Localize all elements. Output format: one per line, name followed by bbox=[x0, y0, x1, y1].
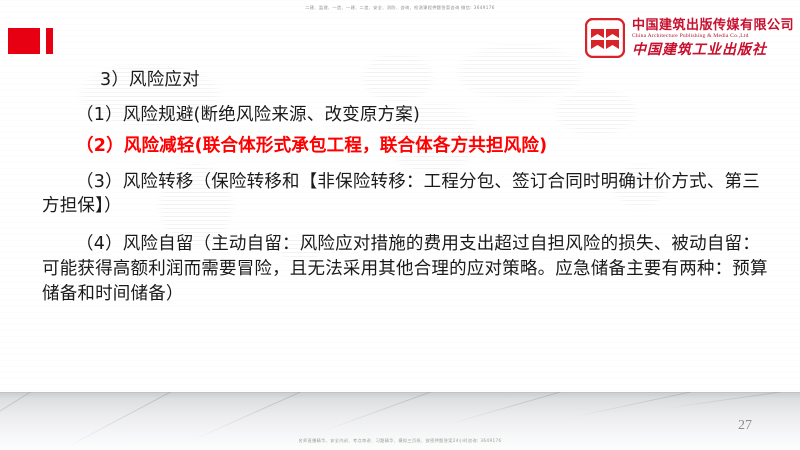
risk-item-1: （1）风险规避(断绝风险来源、改变原方案) bbox=[42, 107, 768, 125]
open-book-icon bbox=[585, 18, 625, 58]
content-heading: 3）风险应对 bbox=[100, 72, 768, 90]
logo-imprint-cn: 中国建筑工业出版社 bbox=[632, 43, 794, 57]
risk-item-4: （4）风险自留（主动自留：风险应对措施的费用支出超过自担风险的损失、被动自留：可… bbox=[42, 232, 768, 307]
floor-ray bbox=[191, 392, 301, 441]
slide-canvas: 中国建筑出版传媒有限公司 China Architecture Publishi… bbox=[0, 0, 800, 450]
slide-content: 3）风险应对 （1）风险规避(断绝风险来源、改变原方案) （2）风险减轻(联合体… bbox=[42, 72, 768, 307]
risk-item-2: （2）风险减轻(联合体形式承包工程，联合体各方共担风险) bbox=[42, 138, 768, 156]
risk-item-3: （3）风险转移（保险转移和【非保险转移：工程分包、签订合同时明确计价方式、第三方… bbox=[42, 170, 768, 220]
publisher-logo: 中国建筑出版传媒有限公司 China Architecture Publishi… bbox=[585, 18, 794, 58]
logo-company-en: China Architecture Publishing & Media Co… bbox=[632, 34, 794, 40]
floor-ray bbox=[318, 392, 431, 434]
page-number: 27 bbox=[738, 418, 752, 434]
watermark-top: 二建、监理、一造、一建、二造、安全、消防、咨询、检测课程押题答案咨询 微信: 3… bbox=[0, 5, 800, 11]
floor-ray bbox=[573, 392, 691, 417]
accent-red-block bbox=[8, 28, 40, 54]
floor-ray bbox=[445, 392, 561, 426]
logo-company-cn: 中国建筑出版传媒有限公司 bbox=[632, 19, 794, 32]
accent-red-bar bbox=[46, 28, 53, 54]
watermark-bottom: 名师直播精华、安全内训、考点串讲、习题精华、模拟三页纸、欲密押题答案24小时咨询… bbox=[0, 438, 800, 444]
